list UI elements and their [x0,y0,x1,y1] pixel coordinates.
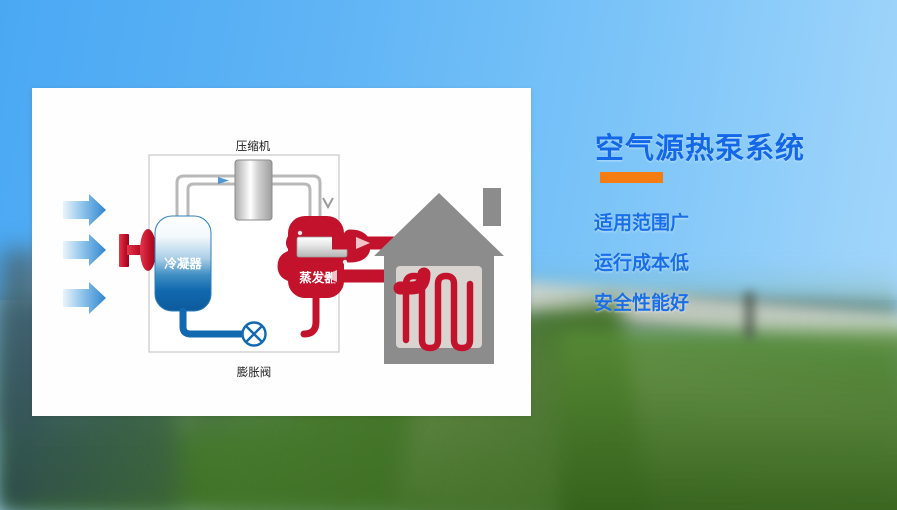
utility-pole-blur [745,292,754,338]
title-accent-bar [600,172,663,183]
air-arrow-icon [63,194,106,226]
page-title: 空气源热泵系统 [595,125,805,167]
condenser-label: 冷凝器 [164,256,202,271]
expansion-valve-label: 膨胀阀 [237,365,272,379]
house-figure [374,188,504,364]
compressor-label: 压缩机 [236,139,271,153]
grass-right-blur [560,330,897,510]
feature-item-0: 适用范围广 [594,208,689,235]
air-arrow-icon [63,282,106,314]
airflow-arrows [63,194,106,314]
feature-item-2: 安全性能好 [594,288,689,315]
slide-canvas: 压缩机 冷凝器 膨胀阀 [0,0,897,510]
heat-pump-diagram: 压缩机 冷凝器 膨胀阀 [32,88,531,416]
expansion-valve-icon [243,323,266,346]
air-arrow-icon [63,234,106,266]
evaporator-unit [284,216,364,298]
compressor-unit [235,160,272,220]
chimney-icon [483,188,501,226]
fan-icon [119,229,156,271]
diagram-card: 压缩机 冷凝器 膨胀阀 [32,88,531,416]
feature-item-1: 运行成本低 [594,248,689,275]
